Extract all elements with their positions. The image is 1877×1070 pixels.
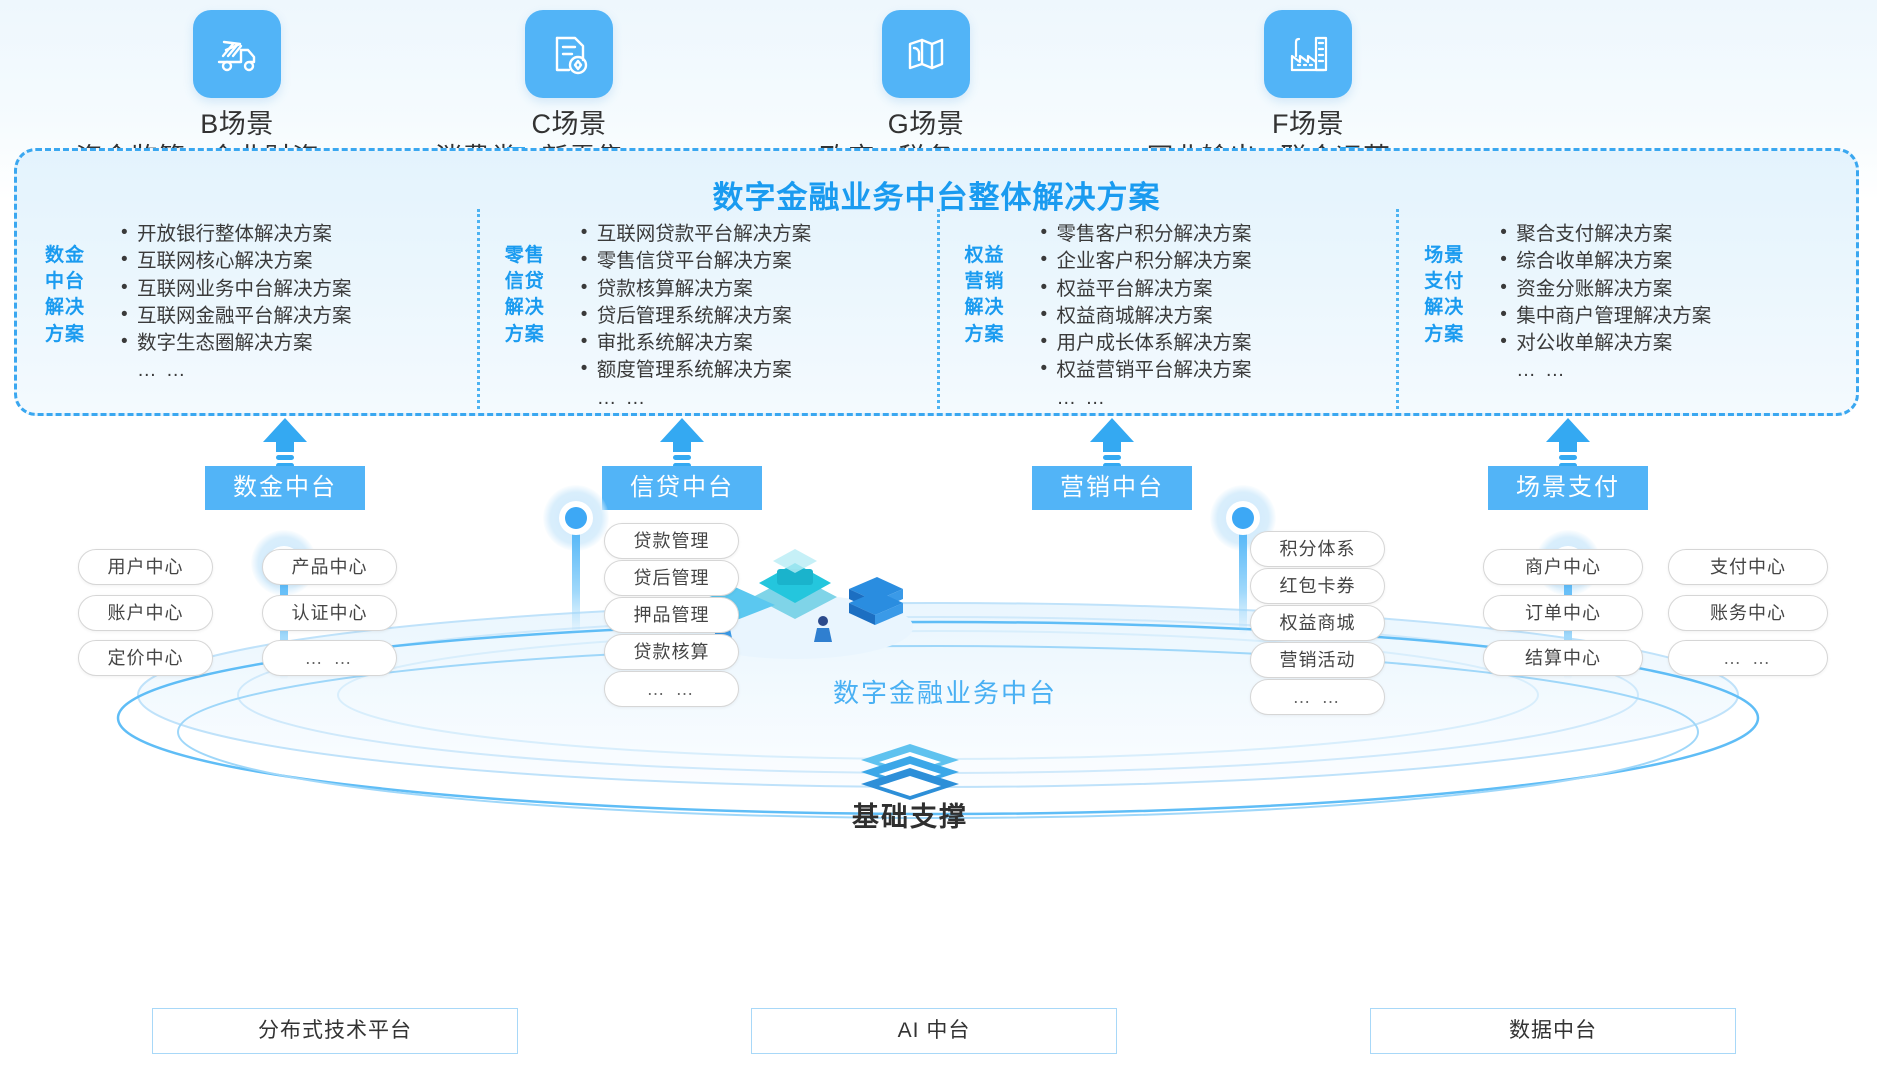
column-item-list: 开放银行整体解决方案 互联网核心解决方案 互联网业务中台解决方案 互联网金融平台… [107,221,352,385]
capability-pill[interactable]: 产品中心 [262,549,397,585]
list-item: 数字生态圈解决方案 [121,330,352,357]
solution-column-rights-marketing: 权益 营销 解决 方案 零售客户积分解决方案 企业客户积分解决方案 权益平台解决… [937,215,1397,415]
capability-pill[interactable]: … … [604,671,739,707]
list-item: 互联网贷款平台解决方案 [581,221,812,248]
capability-pill[interactable]: 结算中心 [1483,640,1643,676]
list-item: 权益营销平台解决方案 [1041,357,1252,384]
truck-delivery-icon [193,10,281,98]
list-item: 互联网核心解决方案 [121,248,352,275]
capability-pill[interactable]: 订单中心 [1483,595,1643,631]
capability-pill[interactable]: 认证中心 [262,595,397,631]
list-item: 审批系统解决方案 [581,330,812,357]
column-item-list: 聚合支付解决方案 综合收单解决方案 资金分账解决方案 集中商户管理解决方案 对公… [1486,221,1711,385]
list-ellipsis: … … [1041,385,1252,412]
column-tag: 数金 中台 解决 方案 [45,243,107,348]
bottom-box-data-platform[interactable]: 数据中台 [1370,1008,1736,1054]
capability-pill[interactable]: 营销活动 [1250,642,1385,678]
list-item: 对公收单解决方案 [1500,330,1711,357]
bottom-box-distributed-tech[interactable]: 分布式技术平台 [152,1008,518,1054]
capability-pill[interactable]: … … [262,640,397,676]
column-tag: 零售 信贷 解决 方案 [505,243,567,348]
capability-pill[interactable]: 红包卡券 [1250,568,1385,604]
factory-building-icon [1264,10,1352,98]
pin-marker-credit [543,485,609,635]
capability-pill[interactable]: … … [1250,679,1385,715]
list-ellipsis: … … [121,357,352,384]
list-item: 贷款核算解决方案 [581,276,812,303]
column-tag: 权益 营销 解决 方案 [965,243,1027,348]
list-item: 综合收单解决方案 [1500,248,1711,275]
diagram-canvas: B场景 资金监管 I 企业财资 I …… C场景 消费类 I 新零售 I …… … [0,0,1877,1070]
list-item: 贷后管理系统解决方案 [581,303,812,330]
list-item: 零售客户积分解决方案 [1041,221,1252,248]
scene-title: G场景 [716,108,1136,142]
solution-column-shujin: 数金 中台 解决 方案 开放银行整体解决方案 互联网核心解决方案 互联网业务中台… [17,215,477,415]
bottom-box-ai-platform[interactable]: AI 中台 [751,1008,1117,1054]
list-item: 用户成长体系解决方案 [1041,330,1252,357]
list-ellipsis: … … [581,385,812,412]
scene-title: F场景 [1098,108,1518,142]
platform-label-marketing[interactable]: 营销中台 [1032,466,1192,510]
solution-column-scene-payment: 场景 支付 解决 方案 聚合支付解决方案 综合收单解决方案 资金分账解决方案 集… [1396,215,1856,415]
list-item: 集中商户管理解决方案 [1500,303,1711,330]
platform-label-payment[interactable]: 场景支付 [1488,466,1648,510]
list-item: 资金分账解决方案 [1500,276,1711,303]
document-check-icon [525,10,613,98]
platform-label-credit[interactable]: 信贷中台 [602,466,762,510]
capability-pill[interactable]: 权益商城 [1250,605,1385,641]
solution-panel: 数字金融业务中台整体解决方案 数金 中台 解决 方案 开放银行整体解决方案 互联… [14,148,1859,416]
solution-column-retail-credit: 零售 信贷 解决 方案 互联网贷款平台解决方案 零售信贷平台解决方案 贷款核算解… [477,215,937,415]
column-item-list: 零售客户积分解决方案 企业客户积分解决方案 权益平台解决方案 权益商城解决方案 … [1027,221,1252,412]
list-item: 零售信贷平台解决方案 [581,248,812,275]
capability-pill[interactable]: 押品管理 [604,597,739,633]
capability-pill[interactable]: 贷款核算 [604,634,739,670]
base-support-label: 基础支撑 [795,795,1025,834]
capability-pill[interactable]: 账务中心 [1668,595,1828,631]
center-platform-label: 数字金融业务中台 [795,673,1095,710]
column-item-list: 互联网贷款平台解决方案 零售信贷平台解决方案 贷款核算解决方案 贷后管理系统解决… [567,221,812,412]
capability-pill[interactable]: 定价中心 [78,640,213,676]
capability-pill[interactable]: 贷后管理 [604,560,739,596]
list-item: 额度管理系统解决方案 [581,357,812,384]
list-item: 开放银行整体解决方案 [121,221,352,248]
capability-pill[interactable]: 商户中心 [1483,549,1643,585]
platform-label-shujin[interactable]: 数金中台 [205,466,365,510]
capability-pill[interactable]: 积分体系 [1250,531,1385,567]
capability-pill[interactable]: 贷款管理 [604,523,739,559]
list-item: 权益平台解决方案 [1041,276,1252,303]
list-item: 互联网金融平台解决方案 [121,303,352,330]
list-item: 权益商城解决方案 [1041,303,1252,330]
capability-pill[interactable]: 用户中心 [78,549,213,585]
column-tag: 场景 支付 解决 方案 [1424,243,1486,348]
capability-pill[interactable]: 账户中心 [78,595,213,631]
government-map-icon [882,10,970,98]
capability-pill[interactable]: 支付中心 [1668,549,1828,585]
list-ellipsis: … … [1500,357,1711,384]
list-item: 聚合支付解决方案 [1500,221,1711,248]
list-item: 企业客户积分解决方案 [1041,248,1252,275]
capability-pill[interactable]: … … [1668,640,1828,676]
list-item: 互联网业务中台解决方案 [121,276,352,303]
solution-columns: 数金 中台 解决 方案 开放银行整体解决方案 互联网核心解决方案 互联网业务中台… [17,215,1856,415]
